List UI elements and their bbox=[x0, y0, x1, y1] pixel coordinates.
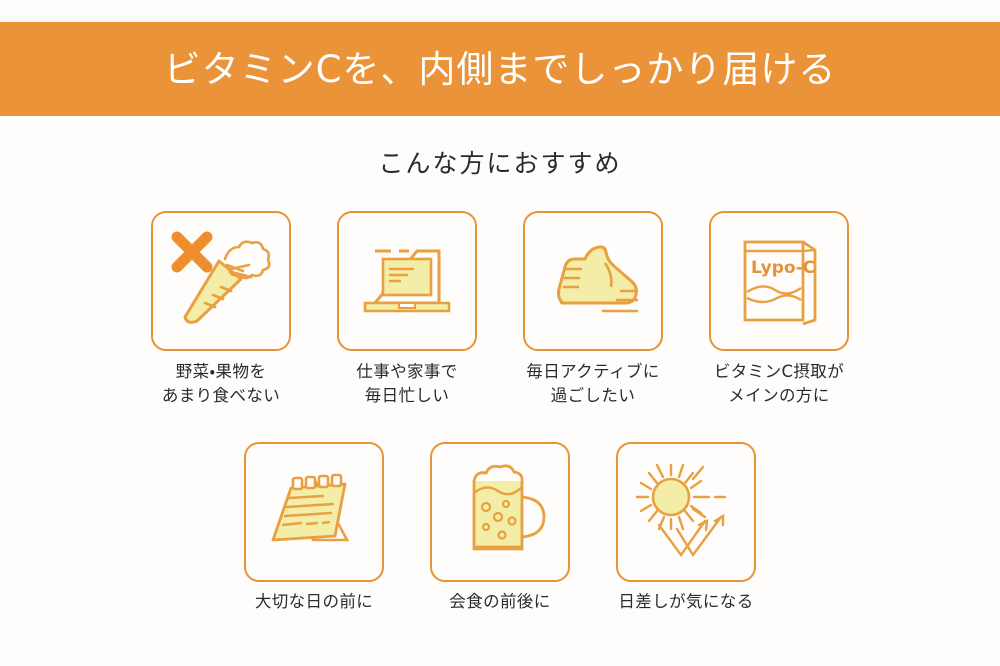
header-banner: ビタミンCを、内側までしっかり届ける bbox=[0, 22, 1000, 116]
icon-frame: Lypo-C bbox=[709, 211, 849, 351]
recommendation-row-2: 大切な日の前に bbox=[0, 442, 1000, 614]
sneaker-active-icon bbox=[539, 229, 647, 333]
recommendation-card: 会食の前後に bbox=[428, 442, 572, 614]
laptop-busy-icon bbox=[355, 229, 459, 333]
icon-frame bbox=[244, 442, 384, 582]
card-label: 会食の前後に bbox=[449, 590, 550, 614]
package-brand-text: Lypo-C bbox=[751, 258, 815, 278]
icon-frame bbox=[523, 211, 663, 351]
card-label: 大切な日の前に bbox=[255, 590, 373, 614]
beer-mug-icon bbox=[452, 459, 548, 565]
recommendation-card: 野菜・果物を あまり食べない bbox=[149, 211, 293, 409]
card-label: 仕事や家事で 毎日忙しい bbox=[356, 360, 457, 409]
recommendation-card: 仕事や家事で 毎日忙しい bbox=[335, 211, 479, 409]
card-label: ビタミンC摂取が メインの方に bbox=[714, 360, 844, 409]
card-label: 野菜・果物を あまり食べない bbox=[162, 360, 280, 409]
recommendation-card: 大切な日の前に bbox=[242, 442, 386, 614]
sun-rays-icon bbox=[631, 459, 741, 565]
page-title: ビタミンCを、内側までしっかり届ける bbox=[164, 51, 837, 88]
icon-frame bbox=[337, 211, 477, 351]
recommendation-card: Lypo-C ビタミンC摂取が メインの方に bbox=[707, 211, 851, 409]
recommendation-row-1: 野菜・果物を あまり食べない bbox=[0, 211, 1000, 409]
section-subtitle: こんな方におすすめ bbox=[0, 144, 1000, 180]
icon-frame bbox=[616, 442, 756, 582]
card-label: 日差しが気になる bbox=[618, 590, 753, 614]
icon-frame bbox=[430, 442, 570, 582]
calendar-notepad-icon bbox=[261, 462, 367, 562]
card-label: 毎日アクティブに 過ごしたい bbox=[526, 360, 659, 409]
carrot-no-vegetables-icon bbox=[165, 225, 277, 337]
recommendation-card: 日差しが気になる bbox=[614, 442, 758, 614]
icon-frame bbox=[151, 211, 291, 351]
lypo-c-package-icon: Lypo-C bbox=[731, 228, 827, 334]
promo-panel: ビタミンCを、内側までしっかり届ける こんな方におすすめ bbox=[0, 0, 1000, 666]
recommendation-card: 毎日アクティブに 過ごしたい bbox=[521, 211, 665, 409]
